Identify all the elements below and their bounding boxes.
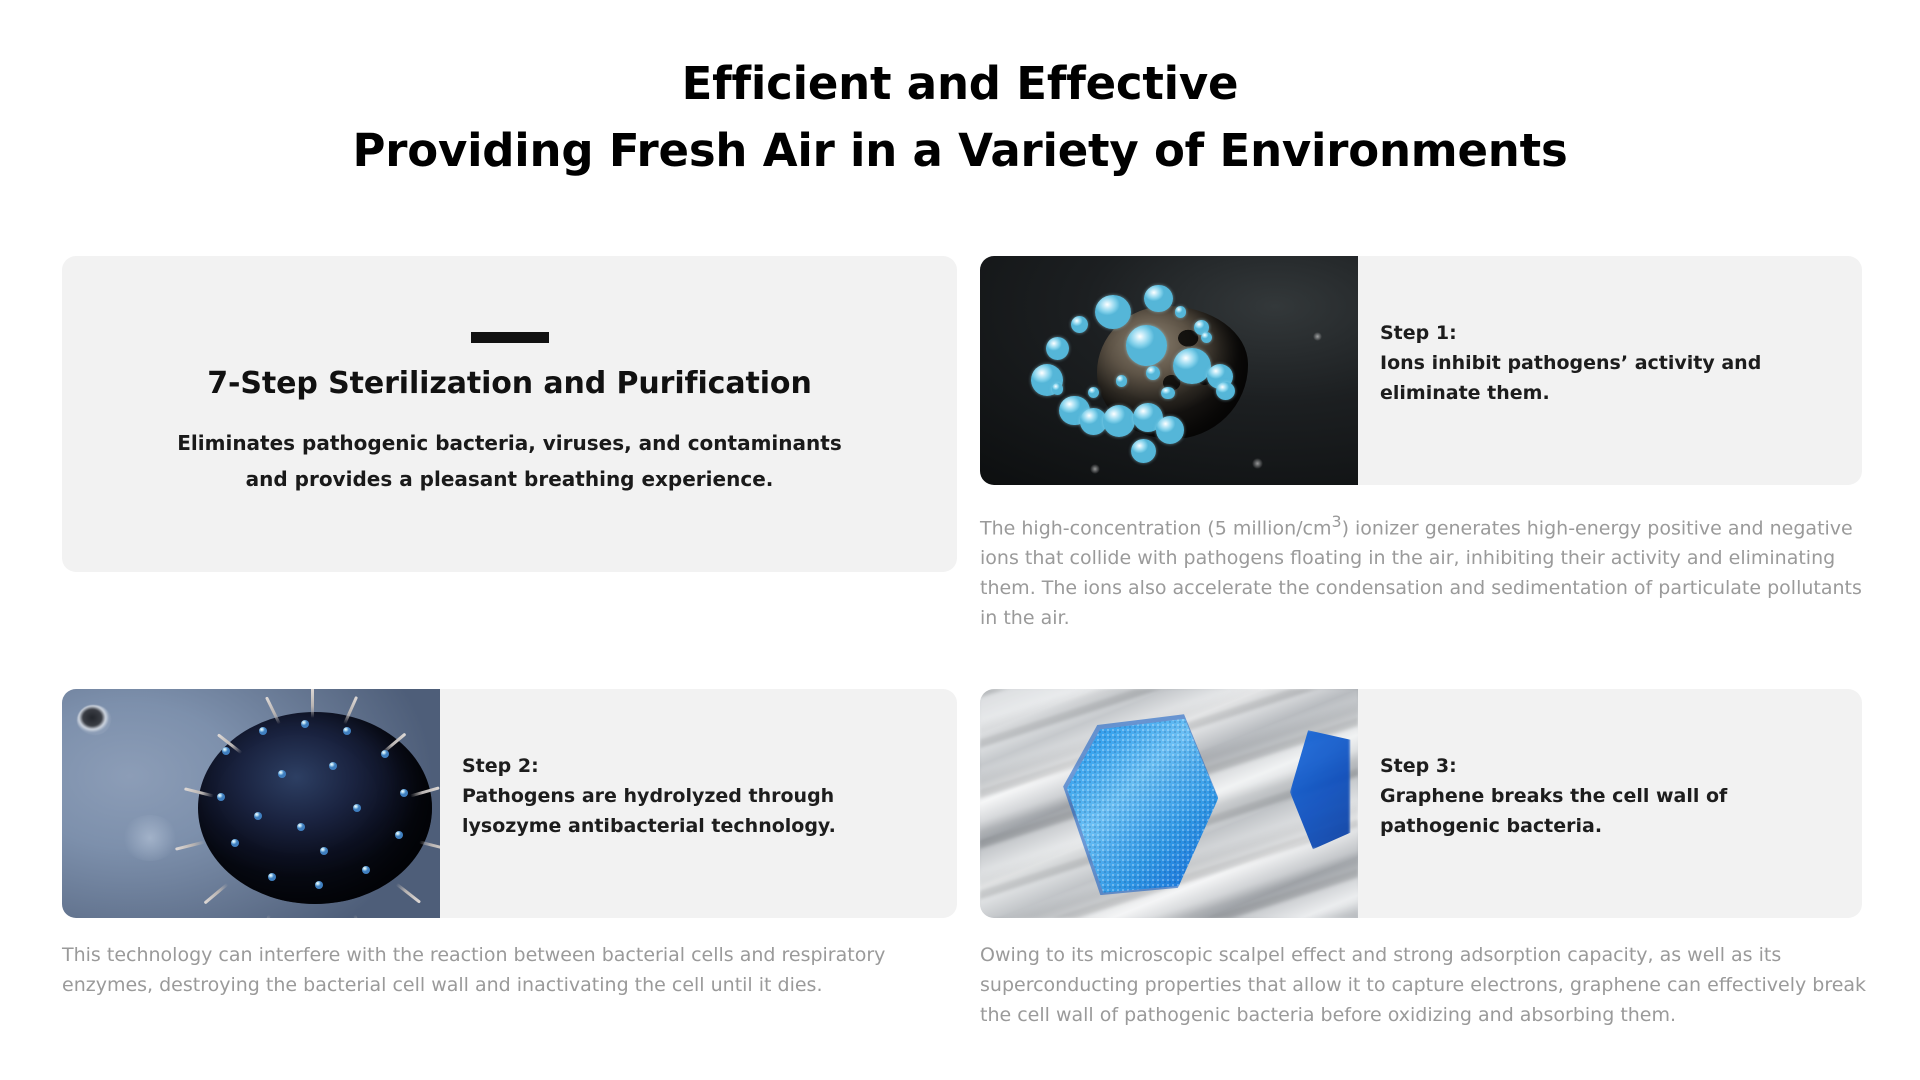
bokeh-dot <box>1090 464 1100 474</box>
virus-spike <box>353 914 368 918</box>
ion-sphere <box>1175 306 1186 317</box>
step-card-1: Step 1: Ions inhibit pathogens’ activity… <box>980 256 1862 485</box>
virus-spike <box>204 883 229 905</box>
bokeh-dot <box>1313 332 1322 341</box>
grid-row-1: 7-Step Sterilization and Purification El… <box>62 256 1862 572</box>
page-title-line-2: Providing Fresh Air in a Variety of Envi… <box>0 117 1920 184</box>
step-3-text: Step 3: Graphene breaks the cell wall of… <box>1380 751 1836 841</box>
virus-spike <box>257 914 271 918</box>
virus-spike <box>410 786 440 797</box>
ion-sphere <box>1071 316 1088 333</box>
content-grid: 7-Step Sterilization and Purification El… <box>62 256 1862 918</box>
virus-illustration <box>62 689 440 918</box>
virus-knob <box>400 789 408 797</box>
intro-card-subtitle-line-1: Eliminates pathogenic bacteria, viruses,… <box>177 425 841 461</box>
ion-sphere <box>1126 325 1168 366</box>
ion-sphere <box>1144 285 1172 312</box>
graphene-illustration <box>980 689 1358 918</box>
ion-sphere <box>1146 366 1159 380</box>
virus-spike <box>311 689 314 718</box>
virus-knob <box>297 823 305 831</box>
virus-spike <box>420 840 440 850</box>
step-1-paragraph-pre: The high-concentration (5 million/cm <box>980 517 1331 539</box>
ion-sphere <box>1103 405 1135 437</box>
ion-cluster-illustration <box>980 256 1358 485</box>
step-1-text: Step 1: Ions inhibit pathogens’ activity… <box>1380 318 1836 408</box>
background-glow <box>122 815 178 861</box>
step-3-label: Step 3: <box>1380 751 1836 781</box>
virus-spike <box>396 883 421 904</box>
virus-spike <box>344 696 359 725</box>
intro-card-subtitle-line-2: and provides a pleasant breathing experi… <box>177 461 841 497</box>
step-2-label: Step 2: <box>462 751 931 781</box>
virus-knob <box>222 747 230 755</box>
virus-spike <box>175 840 205 850</box>
virus-knob <box>268 873 276 881</box>
virus-knob <box>353 804 361 812</box>
ion-sphere <box>1156 416 1184 443</box>
intro-card-title: 7-Step Sterilization and Purification <box>207 366 811 401</box>
grid-row-2: Step 2: Pathogens are hydrolyzed through… <box>62 689 1862 918</box>
slide-root: Efficient and Effective Providing Fresh … <box>0 0 1920 1080</box>
step-card-2: Step 2: Pathogens are hydrolyzed through… <box>62 689 957 918</box>
step-1-paragraph: The high-concentration (5 million/cm3) i… <box>980 507 1878 633</box>
virus-knob <box>278 770 286 778</box>
ion-sphere <box>1088 387 1099 398</box>
ion-sphere <box>1161 387 1174 400</box>
virus-spike <box>217 734 242 755</box>
page-title: Efficient and Effective Providing Fresh … <box>0 50 1920 184</box>
ion-sphere <box>1046 337 1069 360</box>
virus-knob <box>343 727 351 735</box>
virus-knob <box>231 839 239 847</box>
intro-card: 7-Step Sterilization and Purification El… <box>62 256 957 572</box>
virus-knob <box>217 793 225 801</box>
intro-card-body: 7-Step Sterilization and Purification El… <box>62 256 957 572</box>
ion-sphere <box>1116 375 1127 386</box>
step-2-paragraph: This technology can interfere with the r… <box>62 940 942 1000</box>
virus-spike <box>184 787 214 797</box>
divider-rule <box>471 332 549 343</box>
step-2-text: Step 2: Pathogens are hydrolyzed through… <box>462 751 931 841</box>
virus-knob <box>259 727 267 735</box>
virus-knob <box>315 881 323 889</box>
virus-knob <box>320 847 328 855</box>
step-1-image <box>980 256 1358 485</box>
virus-knob <box>362 866 370 874</box>
step-3-paragraph: Owing to its microscopic scalpel effect … <box>980 940 1878 1030</box>
step-2-description: Pathogens are hydrolyzed through lysozym… <box>462 781 931 841</box>
page-title-line-1: Efficient and Effective <box>0 50 1920 117</box>
ion-sphere <box>1052 383 1063 394</box>
virus-knob <box>301 720 309 728</box>
ion-sphere <box>1131 439 1156 463</box>
step-1-description: Ions inhibit pathogens’ activity and eli… <box>1380 348 1836 408</box>
step-3-image <box>980 689 1358 918</box>
virus-knob <box>395 831 403 839</box>
step-1-label: Step 1: <box>1380 318 1836 348</box>
virus-knob <box>329 762 337 770</box>
ion-sphere <box>1173 348 1211 385</box>
bokeh-dot <box>1252 458 1263 469</box>
virus-body-icon <box>198 712 432 904</box>
dust-particle-icon <box>77 705 111 735</box>
step-3-description: Graphene breaks the cell wall of pathoge… <box>1380 781 1836 841</box>
step-1-paragraph-superscript: 3 <box>1331 512 1341 531</box>
step-card-3: Step 3: Graphene breaks the cell wall of… <box>980 689 1862 918</box>
intro-card-subtitle: Eliminates pathogenic bacteria, viruses,… <box>177 425 841 497</box>
virus-spike <box>265 696 281 724</box>
virus-knob <box>381 750 389 758</box>
step-2-image <box>62 689 440 918</box>
virus-knob <box>254 812 262 820</box>
